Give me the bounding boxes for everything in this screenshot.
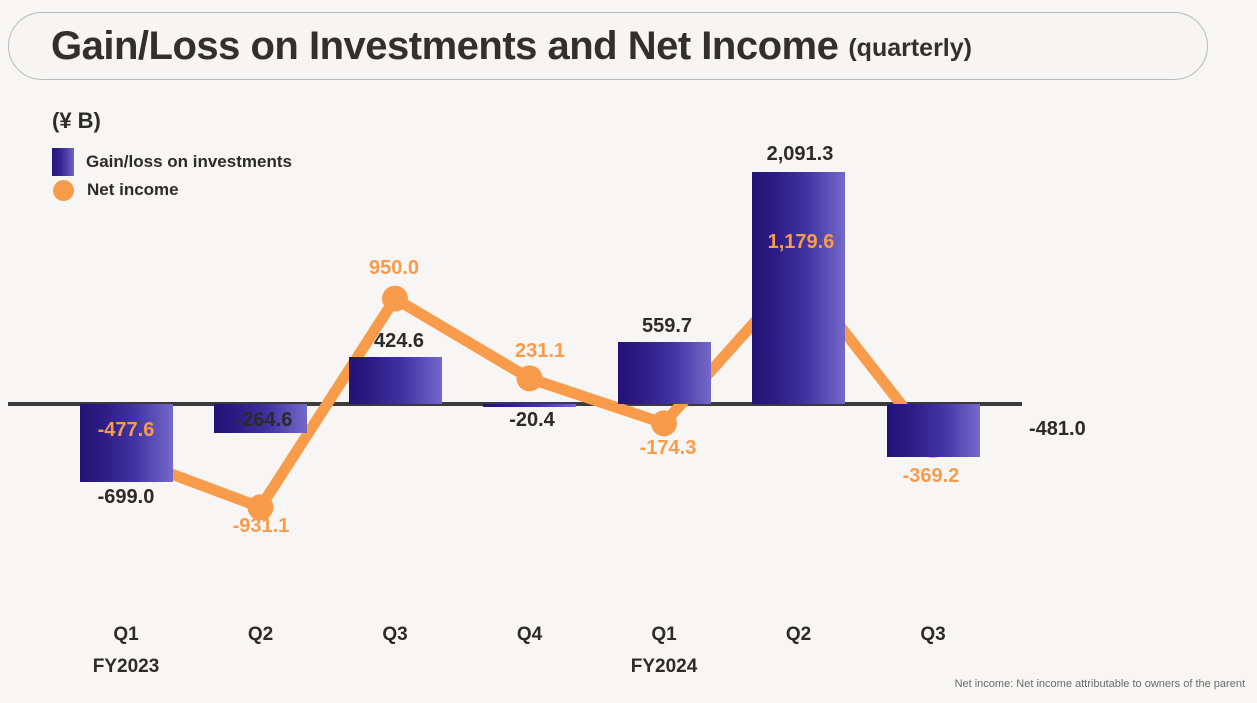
net-income-value-label-2: 950.0 [314,257,474,280]
bar-value-label-2: 424.6 [319,330,479,353]
fiscal-year-label-fy2023: FY2023 [66,656,186,678]
net-income-marker-4 [651,410,677,436]
x-tick-fy2024-q2: Q2 [739,624,859,646]
bar-value-label-1: -264.6 [184,409,344,432]
bar-fy2023-q1 [80,404,173,482]
footnote: Net income: Net income attributable to o… [955,678,1245,690]
bar-fy2024-q1 [618,342,711,404]
net-income-value-label-3: 231.1 [460,340,620,363]
net-income-value-label-0: -477.6 [46,419,206,442]
bar-value-label-5: 2,091.3 [720,143,880,166]
x-tick-fy2023-q4: Q4 [470,624,590,646]
bar-value-label-6: -481.0 [1029,418,1086,441]
net-income-value-label-1: -931.1 [181,515,341,538]
net-income-value-label-4: -174.3 [588,437,748,460]
bar-fy2023-q3 [349,357,442,404]
bar-value-label-3: -20.4 [452,409,612,432]
x-tick-fy2023-q3: Q3 [335,624,455,646]
net-income-marker-3 [517,365,543,391]
net-income-marker-2 [382,286,408,312]
x-tick-fy2024-q3: Q3 [873,624,993,646]
net-income-value-label-5: 1,179.6 [721,231,881,254]
bar-value-label-0: -699.0 [46,486,206,509]
bar-value-label-4: 559.7 [587,315,747,338]
bar-fy2024-q3 [887,404,980,457]
x-tick-fy2023-q2: Q2 [201,624,321,646]
bar-fy2023-q4 [483,404,576,407]
chart-plot-area: -699.0-264.6424.6-20.4559.72,091.3-481.0… [0,0,1257,703]
net-income-value-label-6: -369.2 [851,465,1011,488]
x-tick-fy2023-q1: Q1 [66,624,186,646]
fiscal-year-label-fy2024: FY2024 [604,656,724,678]
x-tick-fy2024-q1: Q1 [604,624,724,646]
bar-fy2024-q2 [752,172,845,404]
